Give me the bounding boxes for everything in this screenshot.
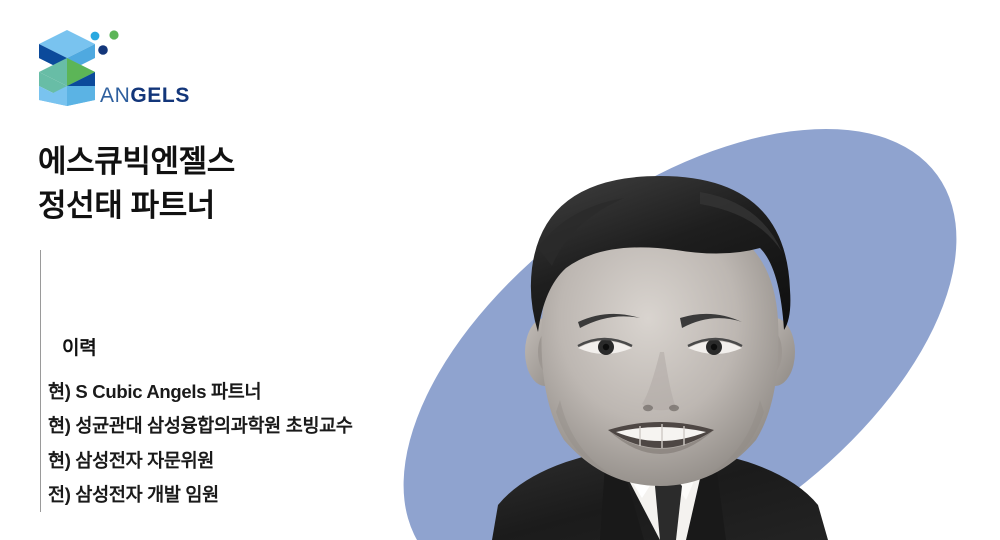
page-title: 에스큐빅엔젤스 정선태 파트너: [38, 140, 458, 228]
brand-logo: ANGELS: [36, 28, 236, 108]
career-list: 현) S Cubic Angels 파트너 현) 성균관대 삼성융합의과학원 초…: [48, 375, 448, 513]
wordmark-bold-part: GELS: [130, 84, 190, 107]
list-item: 현) S Cubic Angels 파트너: [48, 375, 448, 409]
list-item: 현) 성균관대 삼성융합의과학원 초빙교수: [48, 409, 448, 443]
brand-wordmark: ANGELS: [100, 85, 190, 106]
person-name: 정선태 파트너: [38, 184, 458, 228]
slide-canvas: ANGELS 에스큐빅엔젤스 정선태 파트너 이력 현) S Cubic Ang…: [0, 0, 1000, 540]
list-item: 현) 삼성전자 자문위원: [48, 444, 448, 478]
company-name: 에스큐빅엔젤스: [38, 140, 458, 184]
portrait-photo: [492, 176, 828, 540]
wordmark-light-part: AN: [100, 84, 130, 107]
career-heading: 이력: [62, 333, 97, 360]
list-item: 전) 삼성전자 개발 임원: [48, 478, 448, 512]
three-dots-accent-icon: [86, 28, 128, 62]
career-divider-line: [40, 250, 41, 512]
